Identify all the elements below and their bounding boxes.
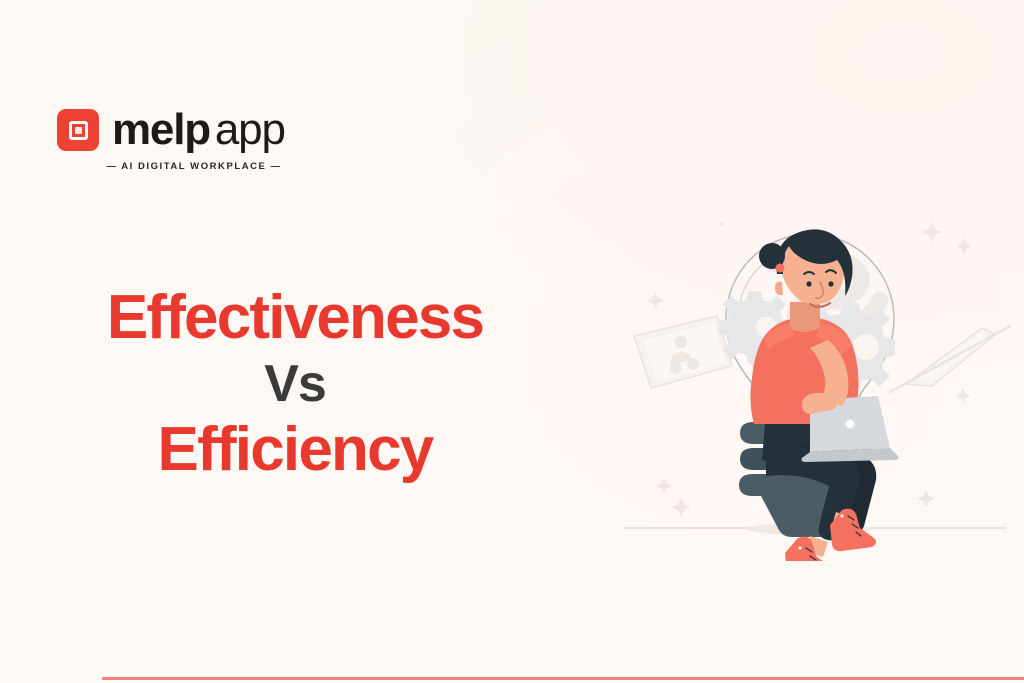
- melp-logo-mark-icon: [57, 109, 99, 151]
- wordmark-bold: melp: [112, 108, 210, 152]
- brand-logo[interactable]: melpapp — AI DIGITAL WORKPLACE —: [57, 108, 287, 172]
- logo-square-outline-icon: [69, 121, 88, 140]
- floating-laptop-icon: [890, 326, 1010, 392]
- page-title: Effectiveness Vs Efficiency: [0, 282, 590, 486]
- poster-canvas: melpapp — AI DIGITAL WORKPLACE — Effecti…: [0, 0, 1024, 683]
- logo-row: melpapp: [57, 108, 287, 152]
- hair-tie: [776, 264, 785, 273]
- headline-line-effectiveness: Effectiveness: [0, 282, 590, 354]
- ear: [775, 282, 783, 296]
- floating-profile-card-icon: [634, 316, 732, 388]
- illustration-svg: [614, 216, 1014, 561]
- bottom-accent-rule: [102, 677, 1024, 680]
- wordmark: melpapp: [112, 108, 285, 152]
- wordmark-light: app: [215, 108, 285, 152]
- brand-tagline: — AI DIGITAL WORKPLACE —: [101, 161, 287, 172]
- hero-illustration: [614, 216, 1014, 561]
- logo-square-inner-icon: [75, 127, 82, 134]
- headline-line-efficiency: Efficiency: [0, 414, 590, 486]
- headline-line-vs: Vs: [0, 354, 590, 414]
